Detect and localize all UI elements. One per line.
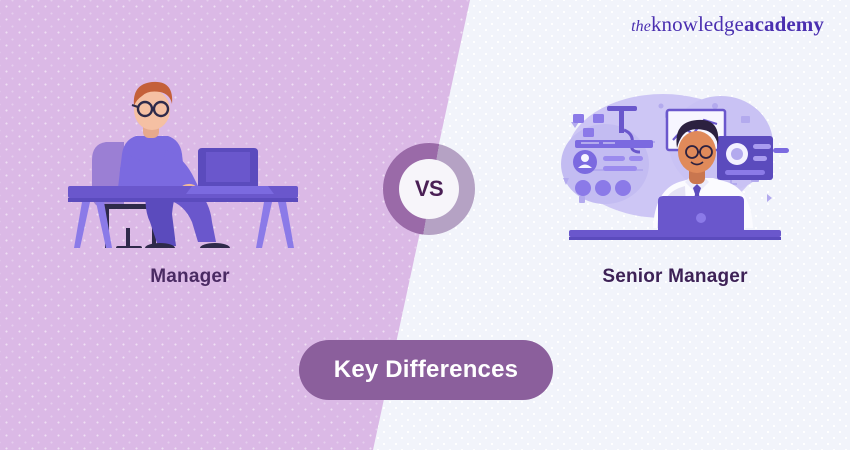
logo-word-academy: academy (744, 12, 824, 36)
senior-manager-dashboard-icon (545, 78, 805, 248)
logo-word-the: the (631, 18, 651, 35)
key-differences-button[interactable]: Key Differences (299, 340, 553, 400)
comparison-graphic: theknowledgeacademy (0, 0, 850, 450)
brand-logo: theknowledgeacademy (631, 14, 824, 35)
manager-panel: Manager (60, 78, 320, 303)
versus-badge: VS (383, 143, 475, 235)
versus-badge-inner: VS (399, 159, 459, 219)
manager-label: Manager (150, 266, 230, 288)
man-at-desk-with-laptop-icon (60, 78, 320, 248)
senior-manager-illustration-wrap (545, 78, 805, 248)
logo-word-knowledge: knowledge (651, 12, 744, 36)
versus-badge-label: VS (415, 176, 443, 202)
key-differences-label: Key Differences (334, 356, 518, 384)
senior-manager-panel: Senior Manager (545, 78, 805, 303)
manager-illustration-wrap (60, 78, 320, 248)
senior-manager-label: Senior Manager (602, 266, 747, 288)
